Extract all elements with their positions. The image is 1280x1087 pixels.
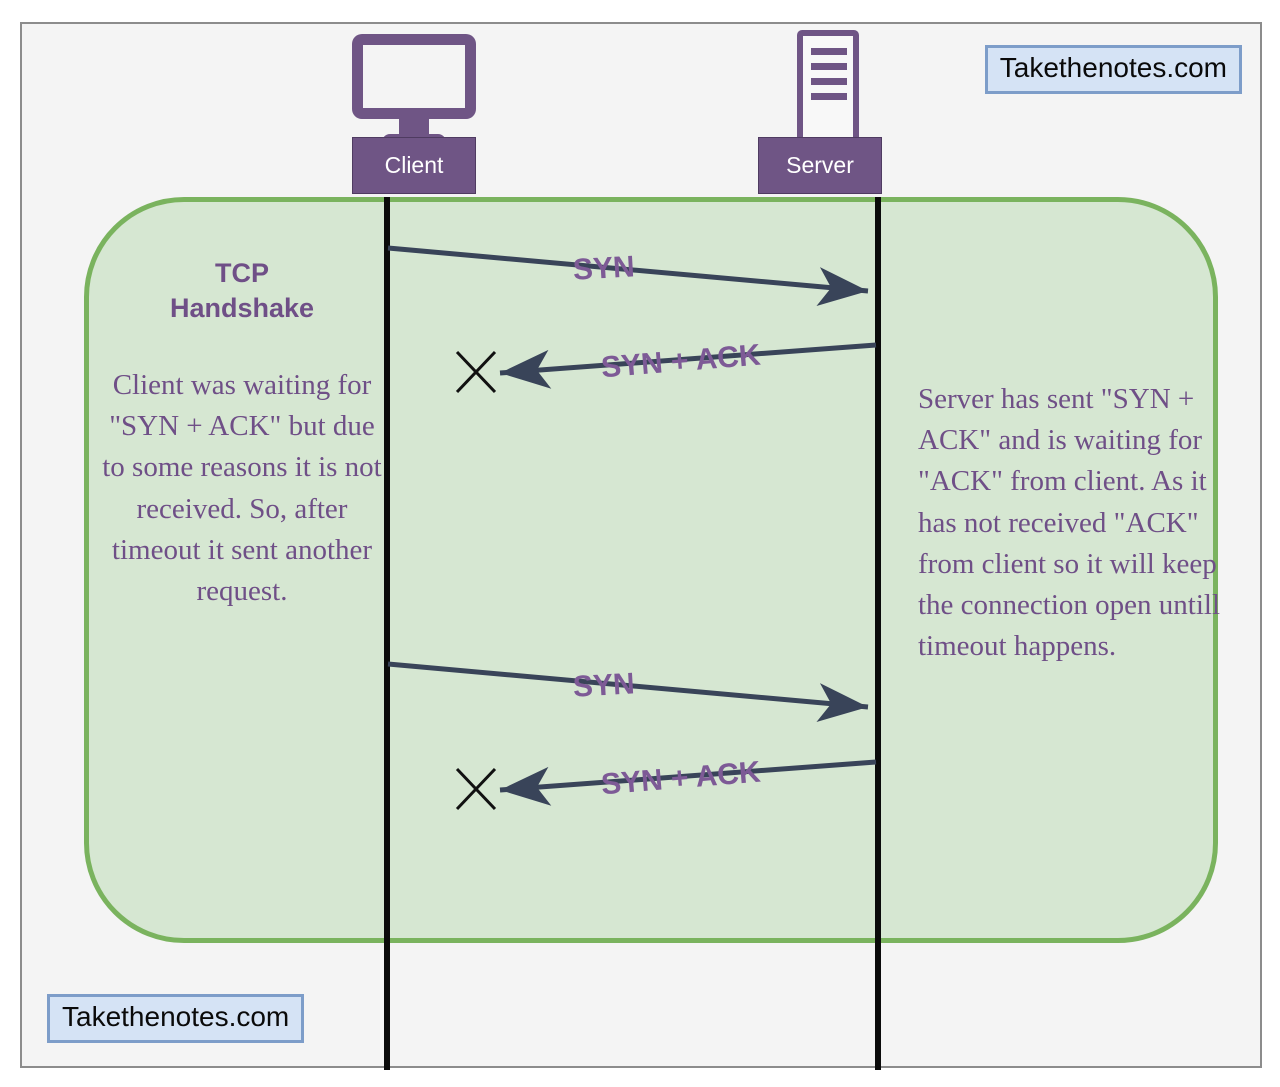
left-annotation: TCP Handshake Client was waiting for "SY… — [98, 256, 386, 612]
left-annotation-title-line2: Handshake — [98, 291, 386, 326]
watermark-bottom: Takethenotes.com — [47, 994, 304, 1043]
server-slot-bar-icon — [811, 63, 847, 70]
server-slot-bar-icon — [811, 78, 847, 85]
message-label-syn-1: SYN — [572, 250, 635, 287]
watermark-top: Takethenotes.com — [985, 45, 1242, 94]
server-lifeline — [875, 197, 881, 1070]
left-annotation-title-line1: TCP — [98, 256, 386, 291]
server-slot-bar-icon — [811, 93, 847, 100]
client-label: Client — [352, 137, 476, 194]
diagram-canvas: Client Server TCP Handshake Client was w… — [20, 22, 1262, 1068]
server-label: Server — [758, 137, 882, 194]
left-annotation-title: TCP Handshake — [98, 256, 386, 325]
server-slot-bar-icon — [811, 48, 847, 55]
monitor-screen-icon — [352, 34, 476, 119]
right-annotation-body: Server has sent "SYN + ACK" and is waiti… — [918, 379, 1223, 667]
left-annotation-body: Client was waiting for "SYN + ACK" but d… — [98, 365, 386, 612]
message-label-syn-2: SYN — [572, 667, 635, 704]
